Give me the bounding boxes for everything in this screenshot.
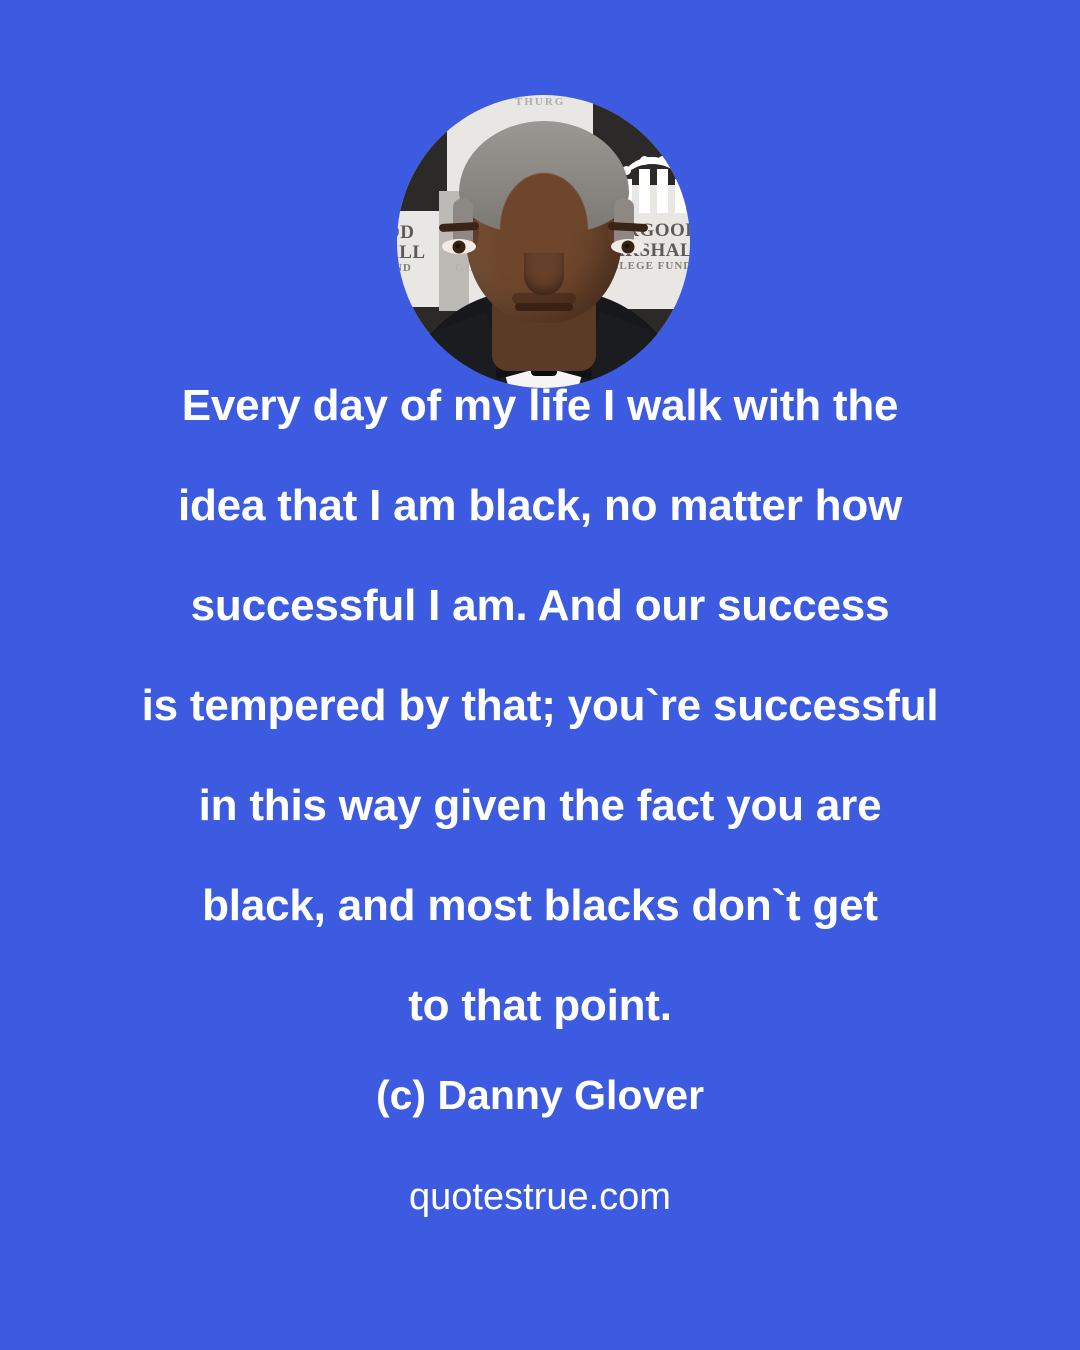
quote-line: is tempered by that; you`re successful [40, 656, 1040, 756]
portrait-person [397, 95, 690, 388]
quote-line: black, and most blacks don`t get [40, 856, 1040, 956]
quote-line: successful I am. And our success [40, 556, 1040, 656]
eye-left [442, 239, 476, 254]
quote-text: Every day of my life I walk with the ide… [0, 356, 1080, 1056]
quote-line: idea that I am black, no matter how [40, 456, 1040, 556]
portrait-avatar: THURG OD ALL UND GOO URGOOD ARSHALL LLEG… [397, 95, 690, 388]
eye-right [611, 239, 645, 254]
hair [459, 121, 629, 233]
quote-attribution: (c) Danny Glover [0, 1072, 1080, 1119]
mouth [515, 303, 573, 311]
site-watermark: quotestrue.com [0, 1176, 1080, 1219]
quote-line: Every day of my life I walk with the [40, 356, 1040, 456]
quote-line: to that point. [40, 956, 1040, 1056]
quote-card: THURG OD ALL UND GOO URGOOD ARSHALL LLEG… [0, 0, 1080, 1350]
quote-line: in this way given the fact you are [40, 756, 1040, 856]
portrait-photo: THURG OD ALL UND GOO URGOOD ARSHALL LLEG… [397, 95, 690, 388]
nose [524, 253, 564, 295]
